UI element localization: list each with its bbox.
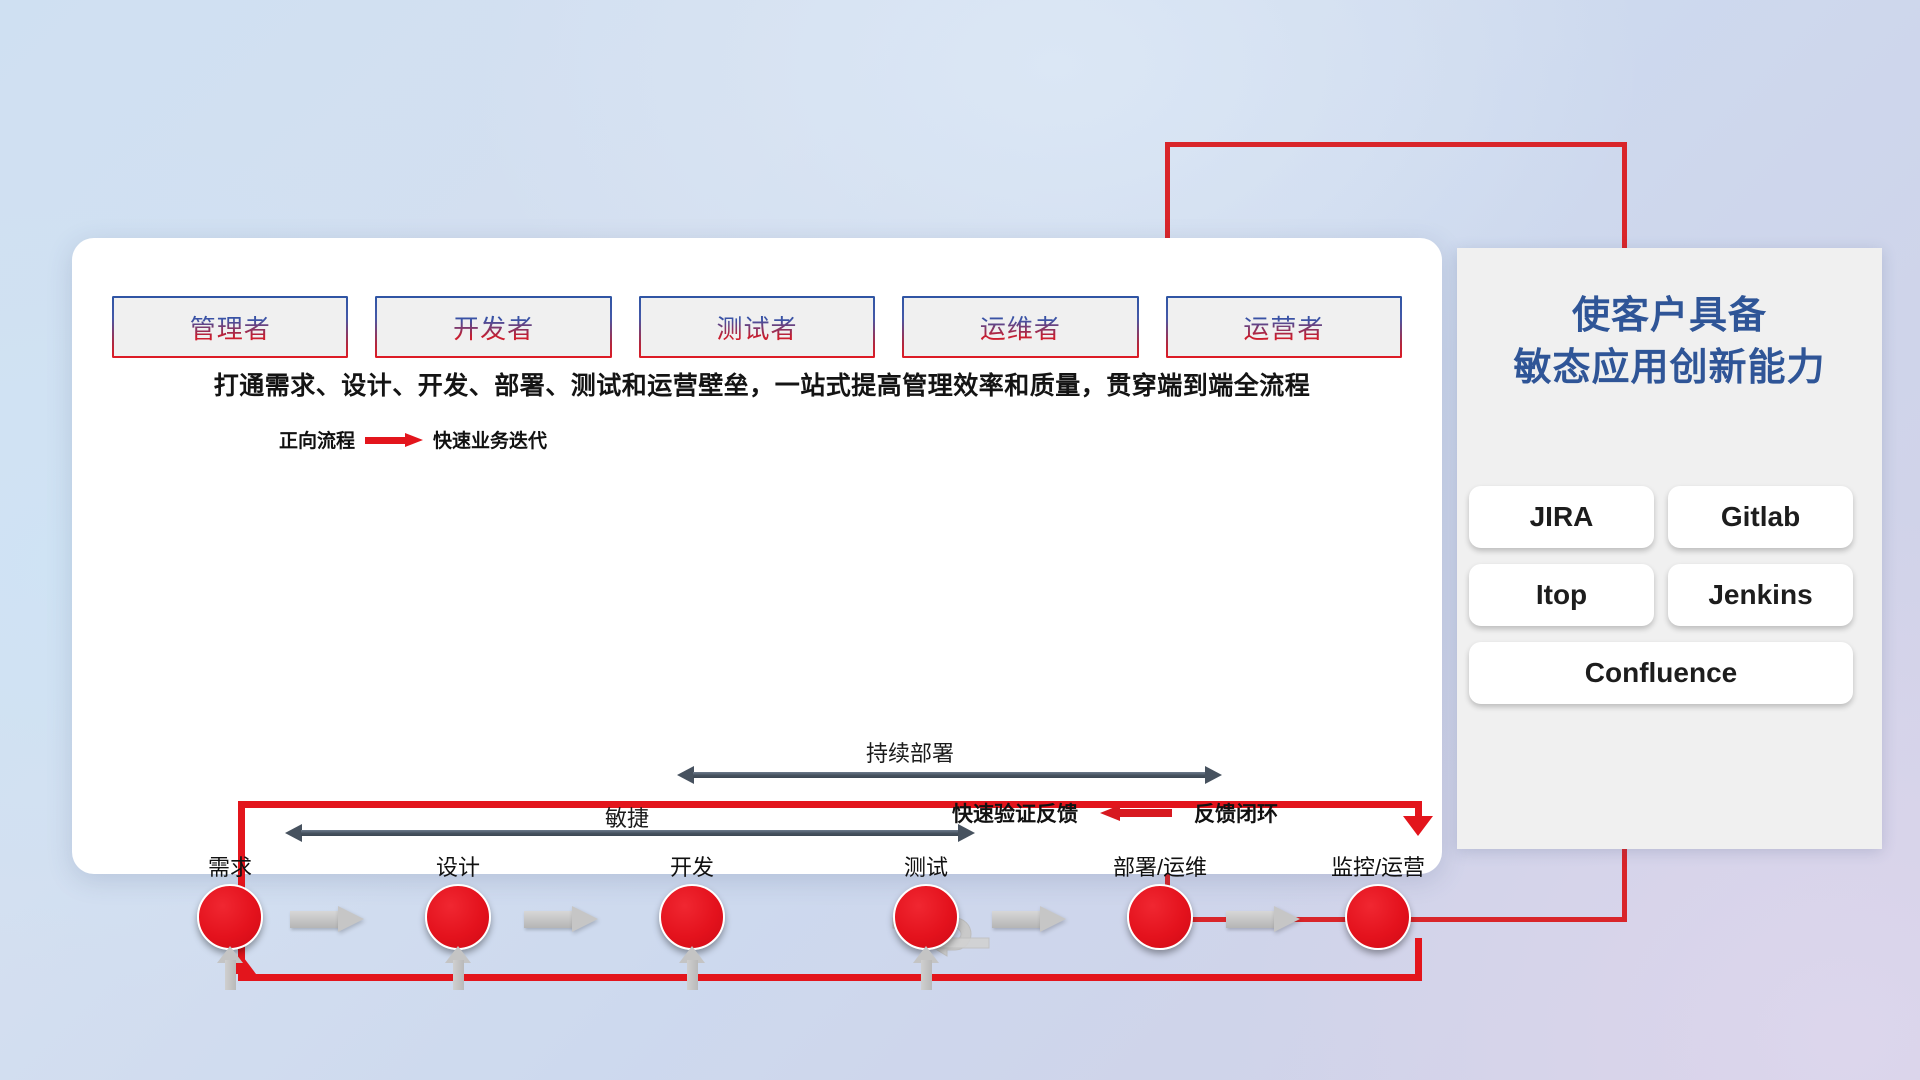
pipeline-node-dot: [1127, 884, 1193, 950]
main-card: 管理者 开发者 测试者 运维者 运营者 打通需求、设计、开发、部署、测试和运营壁…: [72, 238, 1442, 874]
pipeline-node-label: 需求: [208, 850, 252, 882]
gray-arrow-up-icon: [217, 946, 243, 990]
role-label: 测试者: [717, 309, 798, 346]
gray-arrow-up-icon: [679, 946, 705, 990]
arrow-head-right: [1205, 766, 1222, 784]
tool-chip-itop[interactable]: Itop: [1469, 564, 1654, 626]
double-arrow-continuous-deployment-icon: [677, 766, 1222, 784]
legend-forward-from: 正向流程: [279, 426, 355, 453]
tool-chip-jenkins[interactable]: Jenkins: [1668, 564, 1853, 626]
pipeline-node-dot: [425, 884, 491, 950]
arrow-right-red-icon: [365, 433, 423, 447]
legend-forward-flow: 正向流程 快速业务迭代: [279, 426, 547, 453]
gray-arrow-right-icon: [290, 906, 364, 932]
feedback-left-label: 快速验证反馈: [952, 798, 1078, 828]
tool-chip-confluence[interactable]: Confluence: [1469, 642, 1853, 704]
description-text: 打通需求、设计、开发、部署、测试和运营壁垒，一站式提高管理效率和质量，贯穿端到端…: [122, 366, 1402, 402]
pipeline-node-label: 开发: [670, 850, 714, 882]
panel-title-line2: 敏态应用创新能力: [1457, 342, 1882, 394]
arrow-head-left: [285, 824, 302, 842]
tool-chip-jira[interactable]: JIRA: [1469, 486, 1654, 548]
gray-arrow-right-icon: [524, 906, 598, 932]
feedback-legend: 快速验证反馈 反馈闭环: [952, 798, 1278, 828]
gray-arrow-right-icon: [992, 906, 1066, 932]
continuous-deployment-label: 持续部署: [866, 736, 954, 768]
gray-arrow-up-icon: [913, 946, 939, 990]
tool-chip-gitlab[interactable]: Gitlab: [1668, 486, 1853, 548]
arrow-bar: [693, 772, 1206, 778]
pipeline-node-label: 测试: [904, 850, 948, 882]
role-box-tester[interactable]: 测试者: [639, 296, 875, 358]
pipeline-node-dot: [1345, 884, 1411, 950]
role-box-row: 管理者 开发者 测试者 运维者 运营者: [112, 296, 1402, 358]
role-label: 开发者: [453, 309, 534, 346]
tool-chip-list: JIRA Gitlab Itop Jenkins Confluence: [1469, 486, 1870, 704]
pipeline-node-dot: [197, 884, 263, 950]
feedback-right-label: 反馈闭环: [1194, 798, 1278, 828]
pipeline-row: 需求 设计 开发 测试: [184, 850, 1424, 980]
panel-title-line1: 使客户具备: [1572, 295, 1767, 337]
slide-canvas: 管理者 开发者 测试者 运维者 运营者 打通需求、设计、开发、部署、测试和运营壁…: [0, 0, 1920, 1080]
legend-forward-to: 快速业务迭代: [433, 426, 547, 453]
role-label: 运维者: [980, 309, 1061, 346]
role-label: 运营者: [1243, 309, 1324, 346]
role-box-operations[interactable]: 运营者: [1166, 296, 1402, 358]
role-box-manager[interactable]: 管理者: [112, 296, 348, 358]
value-panel: 使客户具备 敏态应用创新能力 JIRA Gitlab Itop Jenkins …: [1457, 248, 1882, 849]
gray-arrow-right-icon: [1226, 906, 1300, 932]
pipeline-node-dot: [893, 884, 959, 950]
pipeline-node-dot: [659, 884, 725, 950]
role-label: 管理者: [190, 309, 271, 346]
role-box-developer[interactable]: 开发者: [375, 296, 611, 358]
red-loop-arrow-down-icon: [1403, 816, 1433, 836]
role-box-ops[interactable]: 运维者: [902, 296, 1138, 358]
panel-title: 使客户具备 敏态应用创新能力: [1457, 248, 1882, 395]
gray-arrow-up-icon: [445, 946, 471, 990]
arrow-bar: [301, 830, 959, 836]
pipeline-node-label: 部署/运维: [1113, 850, 1207, 882]
arrow-left-red-icon: [1100, 805, 1172, 821]
double-arrow-agile-icon: [285, 824, 975, 842]
pipeline-node-label: 监控/运营: [1331, 850, 1425, 882]
pipeline-node-label: 设计: [436, 850, 480, 882]
arrow-head-left: [677, 766, 694, 784]
